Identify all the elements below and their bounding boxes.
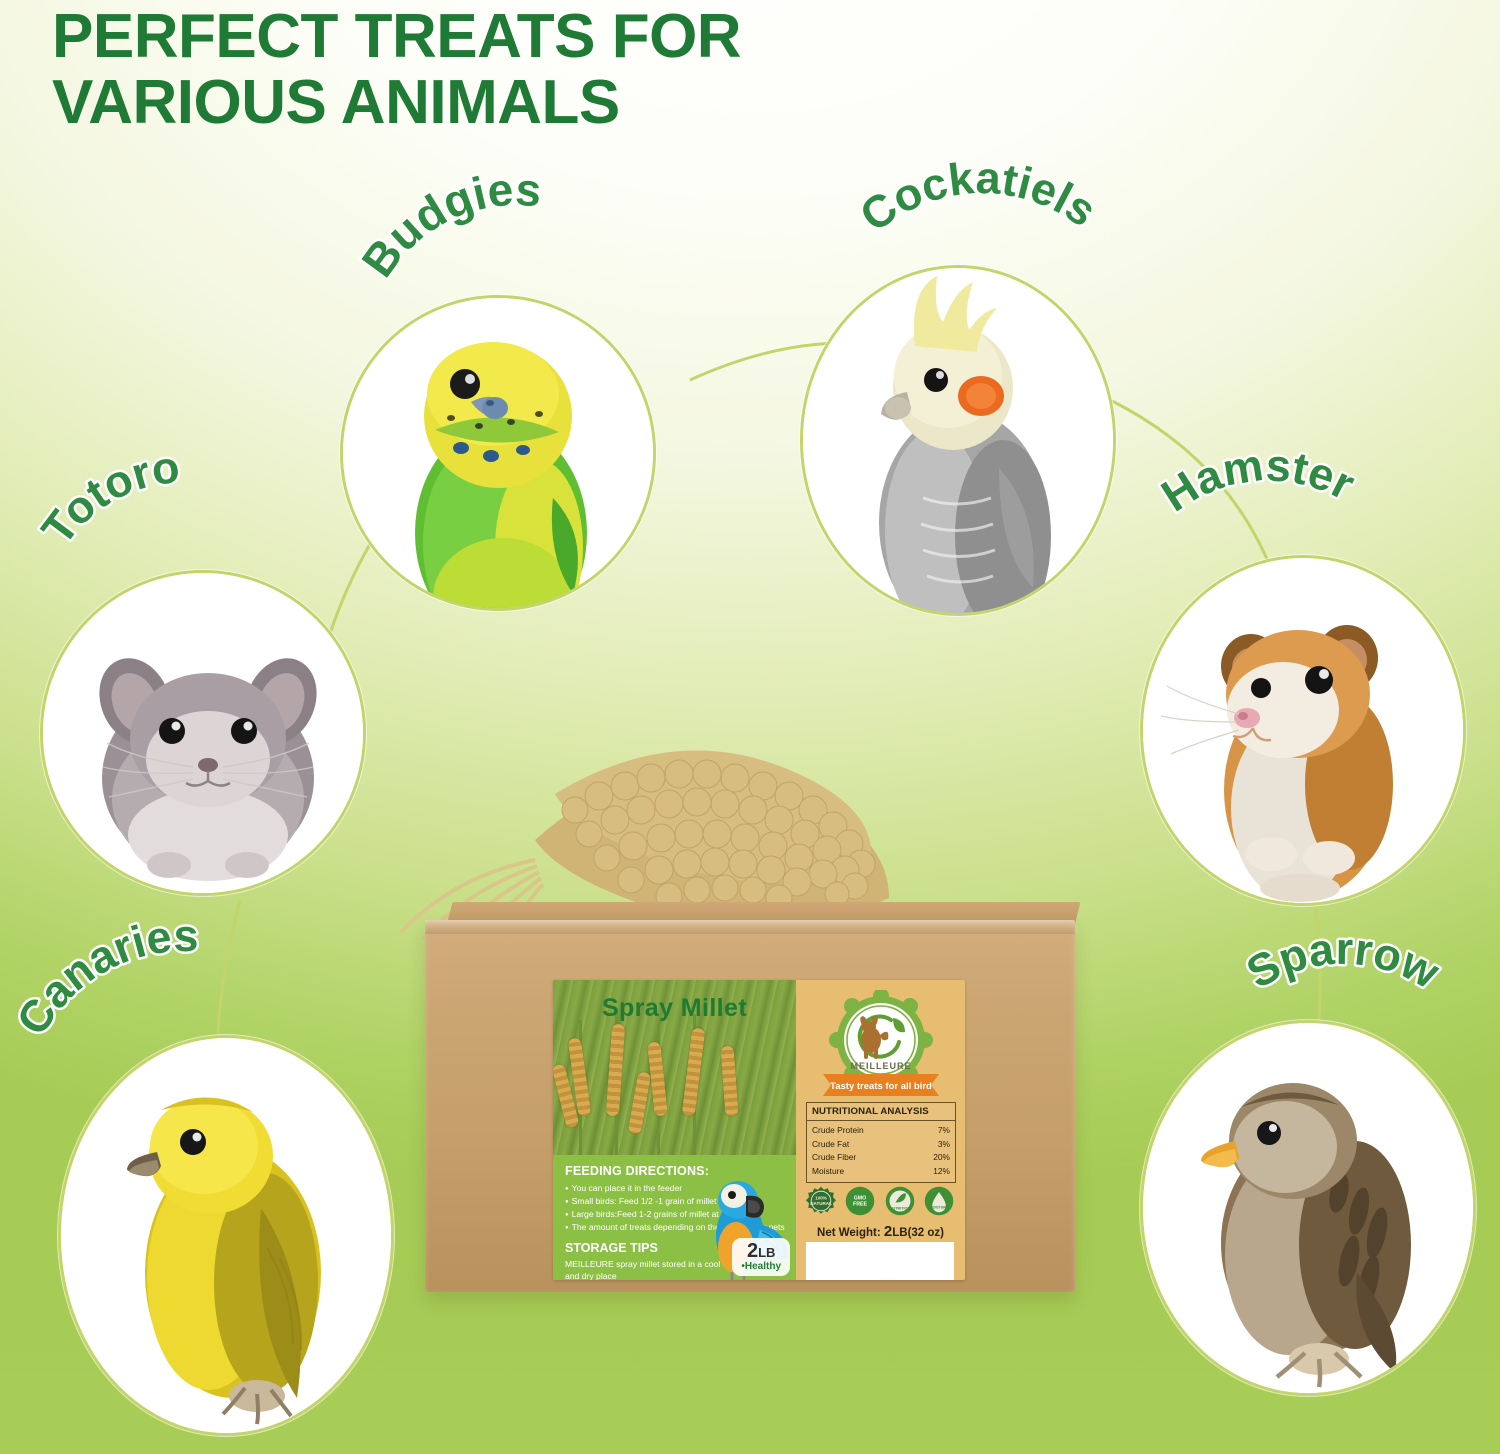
- nutrition-value: 7%: [938, 1124, 950, 1138]
- animal-label-totoro: Totoro: [52, 470, 282, 565]
- gmo-free-badge-icon: GMO FREE: [845, 1186, 875, 1216]
- animal-circle-budgies: [340, 295, 656, 611]
- page-title: PERFECT TREATS FOR VARIOUS ANIMALS: [52, 4, 1052, 137]
- nutrition-rows: Crude Protein 7% Crude Fat 3% Crude Fibe…: [807, 1121, 955, 1182]
- animal-circle-sparrow: [1140, 1020, 1476, 1396]
- natural-badge-icon: 100% NATURAL: [806, 1186, 836, 1216]
- svg-text:NUTRITION: NUTRITION: [889, 1206, 910, 1210]
- product-composition: Spray Millet: [405, 690, 1095, 1310]
- nutrition-label: Moisture: [812, 1165, 844, 1179]
- weight-badge-unit: LB: [758, 1245, 775, 1260]
- sparrow-photo: [1143, 1023, 1473, 1393]
- weight-badge: 2LB •Healthy: [732, 1238, 790, 1276]
- budgie-photo: [343, 298, 653, 608]
- animal-circle-cockatiels: [800, 265, 1116, 616]
- product-label: Spray Millet: [553, 980, 965, 1280]
- animal-circle-totoro: [40, 570, 366, 896]
- nutrition-row: Moisture 12%: [812, 1165, 950, 1179]
- animal-label-cockatiels: Cockatiels: [865, 178, 1145, 278]
- label-left-panel: Spray Millet: [553, 980, 796, 1280]
- chinchilla-photo: [43, 573, 363, 893]
- svg-text:NATURAL: NATURAL: [810, 1201, 832, 1206]
- hamster-photo: [1143, 558, 1463, 903]
- animal-circle-hamster: [1140, 555, 1466, 906]
- label-blank-area: [806, 1242, 954, 1280]
- weight-badge-amount: 2: [747, 1240, 758, 1262]
- weight-badge-tagline: •Healthy: [741, 1262, 781, 1272]
- nutrition-value: 12%: [933, 1165, 950, 1179]
- svg-text:Budgies: Budgies: [351, 163, 543, 286]
- svg-text:100%: 100%: [815, 1196, 827, 1201]
- nutrition-row: Crude Fiber 20%: [812, 1151, 950, 1165]
- animal-label-hamster: Hamster: [1165, 455, 1415, 555]
- svg-text:FREE: FREE: [853, 1202, 868, 1208]
- brand-name: MEILLEURE: [850, 1061, 911, 1071]
- millet-sprays: [385, 690, 1025, 930]
- certification-badges: 100% NATURAL GMO FREE NUTRITION: [806, 1186, 954, 1216]
- box-front-face: Spray Millet: [425, 920, 1075, 1292]
- svg-text:Totoro: Totoro: [31, 441, 182, 554]
- animal-circle-canaries: [58, 1035, 394, 1436]
- canary-photo: [61, 1038, 391, 1433]
- page-title-line-2: VARIOUS ANIMALS: [52, 70, 1052, 136]
- box-tape: [425, 920, 1075, 934]
- rich-moisture-badge-icon: MOISTURE: [924, 1186, 954, 1216]
- svg-text:GMO: GMO: [854, 1196, 867, 1202]
- nutrition-row: Crude Protein 7%: [812, 1124, 950, 1138]
- nutrition-heading: NUTRITIONAL ANALYSIS: [807, 1103, 955, 1121]
- svg-text:Hamster: Hamster: [1152, 439, 1362, 521]
- label-product-title: Spray Millet: [553, 994, 796, 1023]
- page-title-line-1: PERFECT TREATS FOR: [52, 2, 741, 71]
- net-weight-amount: 2: [884, 1223, 892, 1240]
- product-box: Spray Millet: [425, 902, 1075, 1292]
- nutrition-label: Crude Fat: [812, 1138, 849, 1152]
- net-weight: Net Weight: 2LB(32 oz): [796, 1223, 965, 1240]
- brand-tagline: Tasty treats for all bird: [830, 1081, 932, 1092]
- animal-label-canaries: Canaries: [30, 940, 290, 1050]
- nutrition-value: 20%: [933, 1151, 950, 1165]
- cockatiel-photo: [803, 268, 1113, 613]
- net-weight-unit: LB(32 oz): [892, 1227, 944, 1239]
- high-nutrition-badge-icon: NUTRITION: [885, 1186, 915, 1216]
- label-right-panel: MEILLEURE Tasty treats for all bird NUTR…: [796, 980, 965, 1280]
- svg-text:Canaries: Canaries: [6, 910, 198, 1044]
- svg-text:Sparrow: Sparrow: [1238, 923, 1448, 999]
- nutrition-table: NUTRITIONAL ANALYSIS Crude Protein 7% Cr…: [806, 1102, 956, 1183]
- nutrition-value: 3%: [938, 1138, 950, 1152]
- svg-text:Cockatiels: Cockatiels: [851, 152, 1106, 242]
- brand-logo: MEILLEURE Tasty treats for all bird: [817, 990, 945, 1098]
- net-weight-prefix: Net Weight:: [817, 1227, 881, 1239]
- nutrition-row: Crude Fat 3%: [812, 1138, 950, 1152]
- nutrition-label: Crude Protein: [812, 1124, 864, 1138]
- nutrition-label: Crude Fiber: [812, 1151, 856, 1165]
- animal-label-budgies: Budgies: [370, 215, 640, 305]
- svg-text:MOISTURE: MOISTURE: [930, 1206, 949, 1210]
